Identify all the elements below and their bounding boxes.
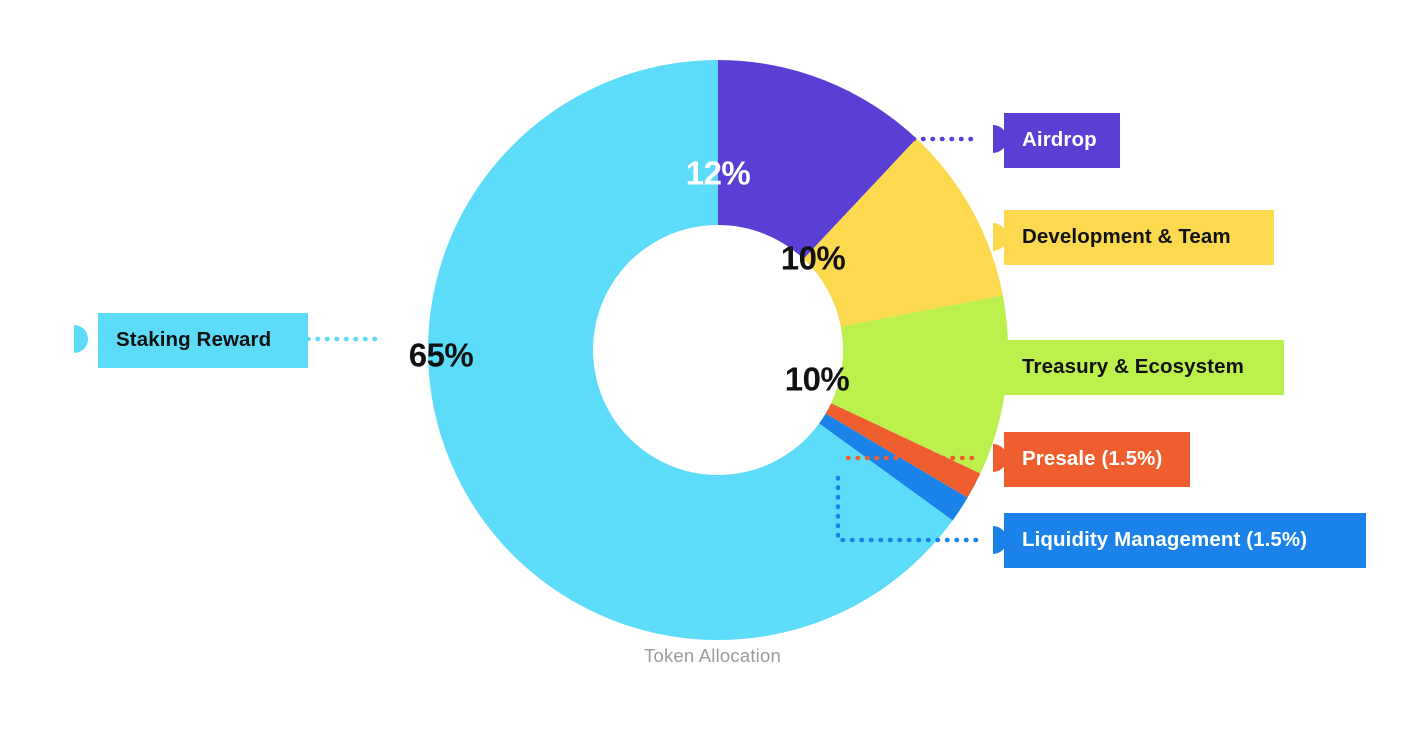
- slice-percent-label-development-team: 10%: [781, 240, 846, 277]
- slice-percent-label-airdrop: 12%: [686, 155, 751, 192]
- chart-canvas: 12%10%10%65% Staking RewardAirdropDevelo…: [0, 0, 1425, 732]
- legend-item-presale[interactable]: Presale (1.5%): [1004, 432, 1190, 487]
- legend-item-label: Liquidity Management (1.5%): [1022, 530, 1307, 551]
- slice-percent-label-treasury-ecosystem: 10%: [785, 361, 850, 398]
- donut-slices: [428, 60, 1008, 640]
- slice-percent-label-staking-reward: 65%: [409, 337, 474, 374]
- legend-item-label: Airdrop: [1022, 130, 1097, 151]
- legend-marker-staking-reward: [74, 325, 88, 353]
- legend-item-development-team[interactable]: Development & Team: [1004, 210, 1274, 265]
- chart-caption: Token Allocation: [0, 645, 1425, 667]
- legend-item-treasury-ecosystem[interactable]: Treasury & Ecosystem: [1004, 340, 1284, 395]
- legend-item-label: Presale (1.5%): [1022, 449, 1162, 470]
- legend-item-label: Treasury & Ecosystem: [1022, 357, 1244, 378]
- legend-item-label: Development & Team: [1022, 227, 1231, 248]
- legend-item-airdrop[interactable]: Airdrop: [1004, 113, 1120, 168]
- legend-item-label: Staking Reward: [116, 330, 271, 351]
- legend-item-liquidity-management[interactable]: Liquidity Management (1.5%): [1004, 513, 1366, 568]
- legend-item-staking-reward[interactable]: Staking Reward: [98, 313, 308, 368]
